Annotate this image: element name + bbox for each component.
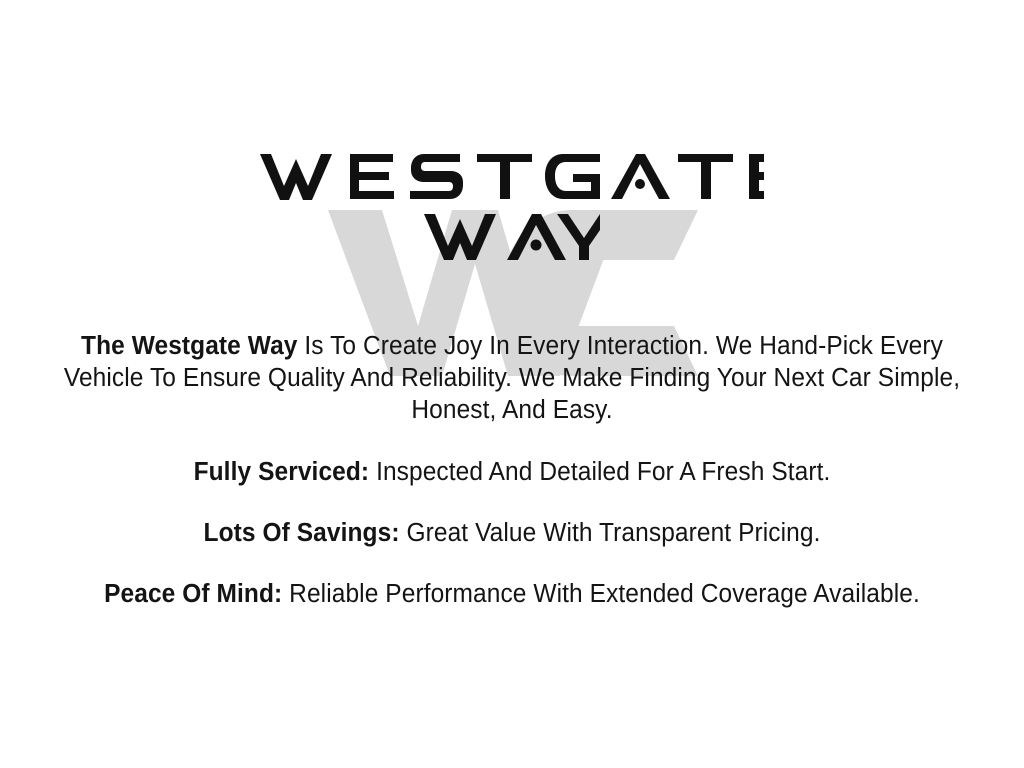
benefit-peace-of-mind: Peace Of Mind: Reliable Performance With…: [45, 578, 978, 610]
benefit-lots-of-savings: Lots Of Savings: Great Value With Transp…: [45, 517, 978, 549]
benefit-lead: Peace Of Mind:: [104, 580, 282, 608]
wordmark-line-westgate: [0, 148, 1024, 200]
benefit-lead: Fully Serviced:: [194, 458, 370, 486]
benefit-rest: Great Value With Transparent Pricing.: [400, 519, 821, 547]
slide-canvas: The Westgate Way Is To Create Joy In Eve…: [0, 0, 1024, 768]
intro-paragraph: The Westgate Way Is To Create Joy In Eve…: [45, 330, 978, 426]
benefit-rest: Reliable Performance With Extended Cover…: [282, 580, 920, 608]
benefit-rest: Inspected And Detailed For A Fresh Start…: [369, 458, 830, 486]
benefit-fully-serviced: Fully Serviced: Inspected And Detailed F…: [45, 456, 978, 488]
body-copy: The Westgate Way Is To Create Joy In Eve…: [26, 330, 998, 610]
benefit-lead: Lots Of Savings:: [204, 519, 400, 547]
intro-lead: The Westgate Way: [81, 332, 297, 360]
wordmark-line-way: [0, 208, 1024, 260]
brand-logo: [0, 100, 1024, 290]
